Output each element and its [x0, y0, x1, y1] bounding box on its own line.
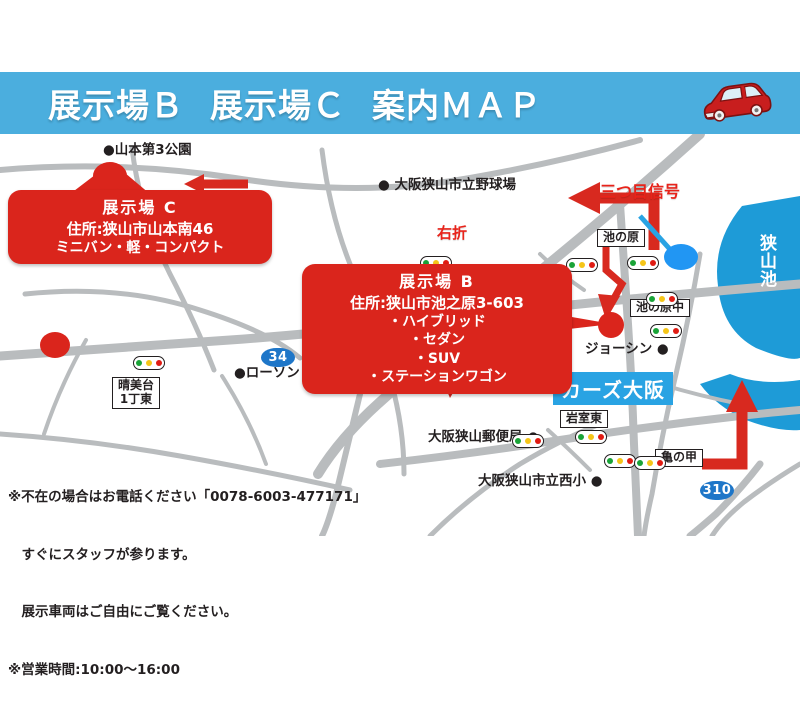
intersection-harumidai: 晴美台 1丁東: [112, 377, 160, 409]
poi-joshin: ジョーシン ●: [585, 342, 669, 357]
traffic-signal-icon-ikenoharanaka-s: [650, 324, 682, 338]
route-arrow-zigzag: [598, 242, 622, 320]
poi-lawson: ●ローソン: [234, 366, 300, 381]
banner-title-part-2: 展示場Ｃ: [210, 79, 346, 127]
footer-note-line-1: ※不在の場合はお電話ください「0078-6003-477171」: [8, 488, 366, 507]
callout-b-item-2: ・セダン: [312, 331, 562, 349]
poi-baseball-stadium: ● 大阪狭山市立野球場: [378, 178, 516, 193]
intersection-harumidai-line2: 1丁東: [118, 393, 154, 407]
traffic-signal-icon-harumidai: [133, 356, 165, 370]
header-banner: 展示場Ｂ 展示場Ｃ 案内ＭＡＰ: [0, 72, 800, 134]
callout-b-item-1: ・ハイブリッド: [312, 313, 562, 331]
callout-c-title: 展示場 C: [18, 197, 262, 219]
intersection-iwamurohigashi: 岩室東: [560, 410, 608, 428]
footer-note-line-2: すぐにスタッフが参ります。: [8, 546, 366, 565]
poi-yamamoto-park: ●山本第3公園: [103, 143, 192, 158]
route-shield-34: 34: [261, 348, 295, 367]
footer-note-line-4: ※営業時間:10:00～16:00: [8, 661, 366, 680]
marker-showroom-b: [598, 312, 624, 338]
annotation-third-signal: 三つ目信号: [600, 178, 680, 202]
traffic-signal-icon-kamenoko: [634, 456, 666, 470]
callout-b-item-3: ・SUV: [312, 350, 562, 368]
intersection-harumidai-line1: 晴美台: [118, 379, 154, 393]
traffic-signal-icon-ikenohara: [627, 256, 659, 270]
footer-note-line-3: 展示車両はご自由にご覧ください。: [8, 603, 366, 622]
callout-b-address: 住所:狭山市池之原3-603: [312, 293, 562, 313]
lake-label-sayamaike: 狭山池: [756, 234, 776, 288]
callout-showroom-c: 展示場 C 住所:狭山市山本南46 ミニバン・軽・コンパクト: [8, 190, 272, 264]
traffic-signal-icon-center-bottom: [604, 454, 636, 468]
marker-showroom-c: [93, 162, 127, 190]
footer-notes: ※不在の場合はお電話ください「0078-6003-477171」 すぐにスタッフ…: [8, 450, 366, 718]
banner-title-part-3: 案内ＭＡＰ: [372, 79, 542, 127]
marker-cars-osaka: [664, 244, 698, 270]
callout-b-title: 展示場 B: [312, 271, 562, 293]
intersection-ikenohara: 池の原: [597, 229, 645, 247]
traffic-signal-icon-post-office: [512, 434, 544, 448]
annotation-turn-right: 右折: [437, 222, 467, 243]
traffic-signal-icon-ikenoharanaka-n: [646, 292, 678, 306]
banner-title-part-1: 展示場Ｂ: [48, 79, 184, 127]
marker-extra-left: [40, 332, 70, 358]
callout-showroom-b: 展示場 B 住所:狭山市池之原3-603 ・ハイブリッド ・セダン ・SUV ・…: [302, 264, 572, 394]
poi-nishi-elementary: 大阪狭山市立西小 ●: [478, 474, 602, 489]
callout-b-item-4: ・ステーションワゴン: [312, 368, 562, 386]
banner-title: 展示場Ｂ 展示場Ｃ 案内ＭＡＰ: [0, 79, 696, 127]
traffic-signal-icon-ikenohara-west: [566, 258, 598, 272]
callout-c-item-1: ミニバン・軽・コンパクト: [18, 239, 262, 257]
map-page: 展示場Ｂ 展示場Ｃ 案内ＭＡＰ .rd { stroke:#: [0, 0, 800, 600]
callout-c-address: 住所:狭山市山本南46: [18, 219, 262, 239]
route-shield-310: 310: [700, 481, 734, 500]
traffic-signal-icon-iwamurohigashi: [575, 430, 607, 444]
red-car-icon: [696, 77, 774, 129]
